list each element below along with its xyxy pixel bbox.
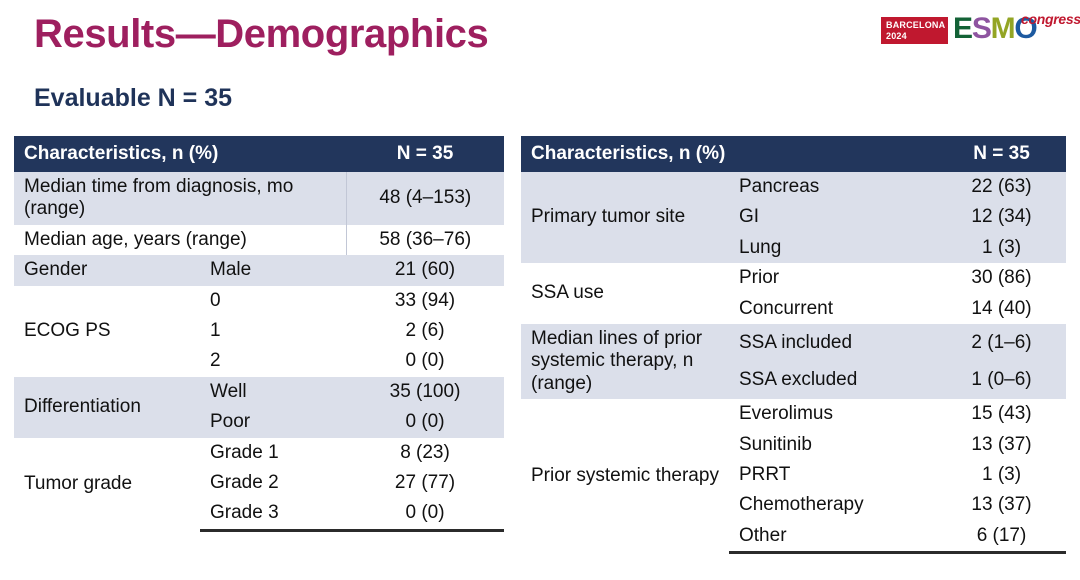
table-row: DifferentiationWell35 (100) [14,377,504,407]
row-label: Median age, years (range) [14,225,346,255]
row-label: Median time from diagnosis, mo (range) [14,172,346,225]
table-header-row: Characteristics, n (%) N = 35 [521,136,1066,172]
table-row: Primary tumor sitePancreas22 (63) [521,172,1066,202]
barcelona-year-badge: BARCELONA 2024 [881,17,948,44]
row-label: Gender [14,255,200,285]
row-label: Primary tumor site [521,172,729,263]
row-label: Median lines of prior systemic therapy, … [521,324,729,399]
esmo-congress-logo: BARCELONA 2024 ESMO congress [881,9,1056,49]
row-subcategory: Prior [729,263,937,293]
table-row: SSA usePrior30 (86) [521,263,1066,293]
row-label: ECOG PS [14,286,200,377]
row-value: 13 (37) [937,430,1066,460]
row-value: 21 (60) [346,255,504,285]
row-label-text: Median age, years (range) [24,229,336,251]
row-label-text: Differentiation [24,396,190,418]
table-row: Median age, years (range)58 (36–76) [14,225,504,255]
row-label-text: Median lines of prior systemic therapy, … [531,328,719,395]
row-value: 0 (0) [346,498,504,530]
row-label-text: Tumor grade [24,473,190,495]
table-row: GenderMale21 (60) [14,255,504,285]
row-subcategory: Everolimus [729,399,937,429]
row-value: 27 (77) [346,468,504,498]
row-label-text: Median time from diagnosis, mo (range) [24,176,336,221]
row-value: 14 (40) [937,294,1066,324]
page-title: Results—Demographics [34,12,488,57]
row-subcategory: SSA excluded [729,362,937,400]
table-right-body: Primary tumor sitePancreas22 (63)GI12 (3… [521,172,1066,553]
row-subcategory: Well [200,377,346,407]
row-value: 15 (43) [937,399,1066,429]
row-value: 8 (23) [346,438,504,468]
row-value: 58 (36–76) [346,225,504,255]
row-value: 0 (0) [346,346,504,376]
row-label-text: ECOG PS [24,320,190,342]
row-value: 1 (3) [937,233,1066,263]
row-subcategory: Sunitinib [729,430,937,460]
table-left-body: Median time from diagnosis, mo (range)48… [14,172,504,530]
table-row: Prior systemic therapyEverolimus15 (43) [521,399,1066,429]
row-value: 12 (34) [937,202,1066,232]
row-subcategory: 2 [200,346,346,376]
column-header-characteristics: Characteristics, n (%) [521,136,937,172]
row-label: Tumor grade [14,438,200,531]
row-value: 2 (6) [346,316,504,346]
row-subcategory: 1 [200,316,346,346]
row-label: Prior systemic therapy [521,399,729,553]
slide-subtitle: Evaluable N = 35 [34,84,232,113]
table-row: Tumor gradeGrade 18 (23) [14,438,504,468]
table-row: ECOG PS033 (94) [14,286,504,316]
row-subcategory: Grade 2 [200,468,346,498]
row-label-text: Gender [24,259,190,281]
demographics-table-left: Characteristics, n (%) N = 35 Median tim… [14,136,504,532]
row-subcategory: Poor [200,407,346,437]
demographics-table-right: Characteristics, n (%) N = 35 Primary tu… [521,136,1066,554]
row-label: SSA use [521,263,729,324]
row-value: 22 (63) [937,172,1066,202]
row-subcategory: Grade 1 [200,438,346,468]
row-subcategory: GI [729,202,937,232]
logo-city: BARCELONA [886,20,948,31]
row-value: 48 (4–153) [346,172,504,225]
row-label-text: SSA use [531,282,719,304]
row-subcategory: Concurrent [729,294,937,324]
logo-year: 2024 [886,31,948,42]
row-label-text: Primary tumor site [531,206,719,228]
row-value: 0 (0) [346,407,504,437]
row-subcategory: Grade 3 [200,498,346,530]
row-label: Differentiation [14,377,200,438]
column-header-characteristics: Characteristics, n (%) [14,136,346,172]
row-value: 13 (37) [937,490,1066,520]
row-subcategory: Pancreas [729,172,937,202]
row-value: 30 (86) [937,263,1066,293]
row-value: 1 (3) [937,460,1066,490]
table-header-row: Characteristics, n (%) N = 35 [14,136,504,172]
row-value: 6 (17) [937,521,1066,553]
column-header-n: N = 35 [346,136,504,172]
row-value: 2 (1–6) [937,324,1066,362]
row-label-text: Prior systemic therapy [531,465,719,487]
row-subcategory: PRRT [729,460,937,490]
logo-congress-label: congress [1021,11,1080,27]
row-value: 33 (94) [346,286,504,316]
table-row: Median time from diagnosis, mo (range)48… [14,172,504,225]
row-value: 35 (100) [346,377,504,407]
esmo-letter-s: S [972,12,991,45]
row-subcategory: SSA included [729,324,937,362]
row-subcategory: Lung [729,233,937,263]
row-subcategory: Chemotherapy [729,490,937,520]
esmo-letter-m: M [991,12,1015,45]
esmo-letter-e: E [953,12,972,45]
column-header-n: N = 35 [937,136,1066,172]
row-value: 1 (0–6) [937,362,1066,400]
row-subcategory: Male [200,255,346,285]
row-subcategory: 0 [200,286,346,316]
table-row: Median lines of prior systemic therapy, … [521,324,1066,362]
row-subcategory: Other [729,521,937,553]
